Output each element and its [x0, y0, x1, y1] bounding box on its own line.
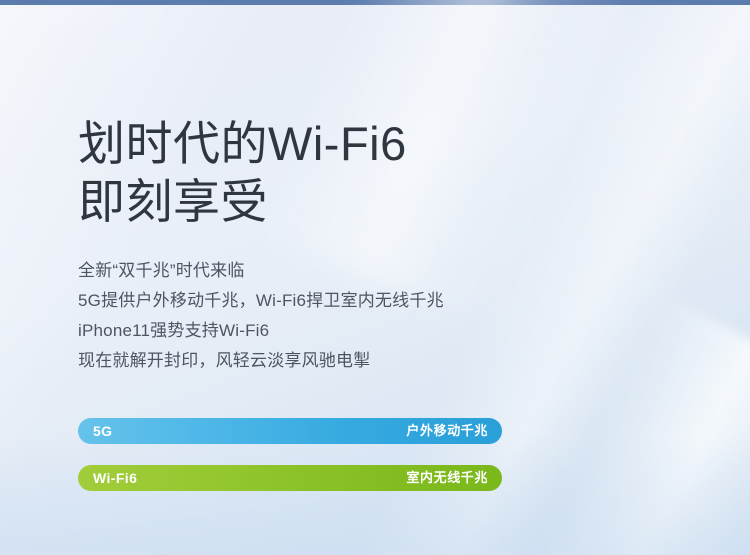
speed-bar-5g-label: 5G	[93, 418, 112, 444]
page-title-line-2: 即刻享受	[78, 173, 407, 231]
promo-banner: 划时代的Wi-Fi6 即刻享受 全新“双千兆”时代来临 5G提供户外移动千兆，W…	[0, 0, 750, 555]
speed-bar-5g-description: 户外移动千兆	[406, 418, 488, 444]
description-line-4: 现在就解开封印，风轻云淡享风驰电掣	[78, 346, 444, 376]
top-accent-rule	[0, 0, 750, 5]
speed-bar-5g: 5G 户外移动千兆	[78, 418, 502, 444]
speed-bar-list: 5G 户外移动千兆 Wi-Fi6 室内无线千兆	[78, 418, 502, 491]
description-line-3: iPhone11强势支持Wi-Fi6	[78, 316, 444, 346]
background-sheen-right	[522, 293, 750, 555]
description-line-2: 5G提供户外移动千兆，Wi-Fi6捍卫室内无线千兆	[78, 286, 444, 316]
speed-bar-wifi6: Wi-Fi6 室内无线千兆	[78, 465, 502, 491]
page-title: 划时代的Wi-Fi6 即刻享受	[78, 115, 407, 231]
description-line-1: 全新“双千兆”时代来临	[78, 256, 444, 286]
speed-bar-wifi6-description: 室内无线千兆	[406, 465, 488, 491]
speed-bar-wifi6-label: Wi-Fi6	[93, 465, 137, 491]
page-title-line-1: 划时代的Wi-Fi6	[78, 115, 407, 173]
description-block: 全新“双千兆”时代来临 5G提供户外移动千兆，Wi-Fi6捍卫室内无线千兆 iP…	[78, 256, 444, 376]
